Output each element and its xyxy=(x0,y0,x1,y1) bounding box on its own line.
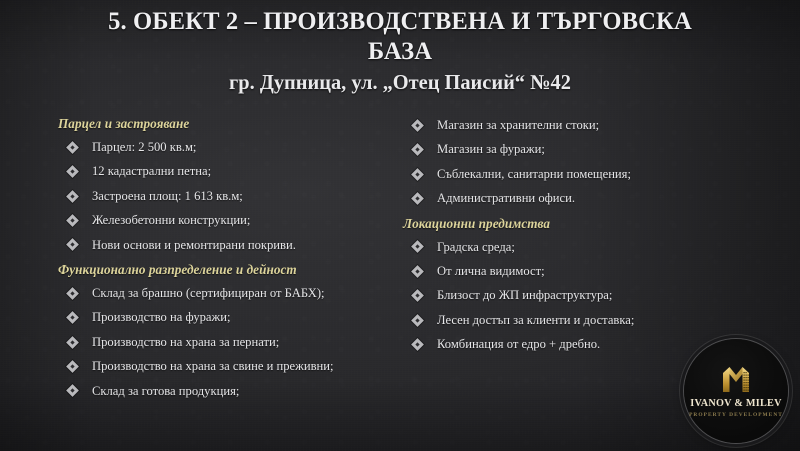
diamond-bullet-icon xyxy=(411,265,424,278)
building-monogram-icon xyxy=(718,362,754,394)
list-item-label: Застроена площ: 1 613 кв.м; xyxy=(92,189,243,203)
list-item: Съблекални, санитарни помещения; xyxy=(393,162,723,186)
diamond-bullet-icon xyxy=(411,338,424,351)
bullet-list: Градска среда; От лична видимост; Близос… xyxy=(393,235,723,357)
presentation-slide: 5. ОБЕКТ 2 – ПРОИЗВОДСТВЕНА И ТЪРГОВСКА … xyxy=(0,0,800,451)
page-title-line-2: БАЗА xyxy=(368,36,432,65)
bullet-list: Склад за брашно (сертифициран от БАБХ); … xyxy=(58,281,393,403)
diamond-bullet-icon xyxy=(66,141,79,154)
section-heading: Парцел и застрояване xyxy=(58,113,393,134)
list-item: Производство на храна за пернати; xyxy=(58,330,393,354)
page-subtitle: гр. Дупница, ул. „Отец Паисий“ №42 xyxy=(51,69,749,96)
diamond-bullet-icon xyxy=(66,336,79,349)
list-item-label: Склад за готова продукция; xyxy=(92,384,239,398)
list-item: Парцел: 2 500 кв.м; xyxy=(58,135,393,159)
logo-tagline: PROPERTY DEVELOPMENT xyxy=(689,411,783,420)
logo-company-name: IVANOV & MILEV xyxy=(690,398,781,409)
list-item-label: Склад за брашно (сертифициран от БАБХ); xyxy=(92,286,325,300)
list-item-label: Производство на фуражи; xyxy=(92,310,230,324)
section-location-advantages: Локационни предимства Градска среда; От … xyxy=(393,213,723,357)
list-item: Градска среда; xyxy=(393,235,723,259)
list-item-label: Близост до ЖП инфраструктура; xyxy=(437,288,612,302)
list-item-label: Комбинация от едро + дребно. xyxy=(437,337,600,351)
list-item: Административни офиси. xyxy=(393,186,723,210)
list-item-label: Производство на храна за пернати; xyxy=(92,335,279,349)
list-item-label: 12 кадастрални петна; xyxy=(92,164,211,178)
section-parcel-and-development: Парцел и застрояване Парцел: 2 500 кв.м;… xyxy=(58,113,393,257)
list-item-label: Градска среда; xyxy=(437,240,515,254)
page-title-line-1: 5. ОБЕКТ 2 – ПРОИЗВОДСТВЕНА И ТЪРГОВСКА xyxy=(108,6,692,35)
diamond-bullet-icon xyxy=(411,168,424,181)
list-item: Лесен достъп за клиенти и доставка; xyxy=(393,308,723,332)
diamond-bullet-icon xyxy=(411,289,424,302)
diamond-bullet-icon xyxy=(66,190,79,203)
diamond-bullet-icon xyxy=(66,360,79,373)
list-item-label: Магазин за фуражи; xyxy=(437,142,545,156)
diamond-bullet-icon xyxy=(66,311,79,324)
list-item-label: Производство на храна за свине и преживн… xyxy=(92,359,334,373)
list-item: Производство на фуражи; xyxy=(58,305,393,329)
list-item: Производство на храна за свине и преживн… xyxy=(58,354,393,378)
section-premises-continued: Магазин за хранителни стоки; Магазин за … xyxy=(393,113,723,211)
list-item: Склад за брашно (сертифициран от БАБХ); xyxy=(58,281,393,305)
slide-content-layer: 5. ОБЕКТ 2 – ПРОИЗВОДСТВЕНА И ТЪРГОВСКА … xyxy=(0,0,800,451)
list-item: От лична видимост; xyxy=(393,259,723,283)
list-item-label: Магазин за хранителни стоки; xyxy=(437,118,599,132)
slide-title-block: 5. ОБЕКТ 2 – ПРОИЗВОДСТВЕНА И ТЪРГОВСКА … xyxy=(40,6,760,96)
list-item-label: Лесен достъп за клиенти и доставка; xyxy=(437,313,634,327)
list-item: Застроена площ: 1 613 кв.м; xyxy=(58,184,393,208)
list-item-label: Нови основи и ремонтирани покриви. xyxy=(92,238,296,252)
diamond-bullet-icon xyxy=(411,240,424,253)
diamond-bullet-icon xyxy=(66,384,79,397)
section-heading: Локационни предимства xyxy=(393,213,723,234)
list-item: Железобетонни конструкции; xyxy=(58,208,393,232)
diamond-bullet-icon xyxy=(411,192,424,205)
diamond-bullet-icon xyxy=(411,119,424,132)
left-column: Парцел и застрояване Парцел: 2 500 кв.м;… xyxy=(58,113,393,405)
list-item: Нови основи и ремонтирани покриви. xyxy=(58,233,393,257)
diamond-bullet-icon xyxy=(66,238,79,251)
list-item-label: Железобетонни конструкции; xyxy=(92,213,250,227)
list-item: Магазин за фуражи; xyxy=(393,137,723,161)
list-item: Склад за готова продукция; xyxy=(58,379,393,403)
list-item-label: Съблекални, санитарни помещения; xyxy=(437,167,631,181)
right-column: Магазин за хранителни стоки; Магазин за … xyxy=(393,113,723,359)
slide-body: Парцел и застрояване Парцел: 2 500 кв.м;… xyxy=(0,113,800,405)
list-item: Комбинация от едро + дребно. xyxy=(393,332,723,356)
diamond-bullet-icon xyxy=(411,143,424,156)
section-functional-distribution: Функционално разпределение и дейност Скл… xyxy=(58,259,393,403)
list-item: Близост до ЖП инфраструктура; xyxy=(393,283,723,307)
diamond-bullet-icon xyxy=(66,165,79,178)
diamond-bullet-icon xyxy=(66,214,79,227)
diamond-bullet-icon xyxy=(66,287,79,300)
list-item: 12 кадастрални петна; xyxy=(58,159,393,183)
bullet-list: Парцел: 2 500 кв.м; 12 кадастрални петна… xyxy=(58,135,393,257)
page-title: 5. ОБЕКТ 2 – ПРОИЗВОДСТВЕНА И ТЪРГОВСКА … xyxy=(53,6,748,66)
list-item-label: Административни офиси. xyxy=(437,191,575,205)
list-item: Магазин за хранителни стоки; xyxy=(393,113,723,137)
list-item-label: Парцел: 2 500 кв.м; xyxy=(92,140,196,154)
company-logo: IVANOV & MILEV PROPERTY DEVELOPMENT xyxy=(684,339,788,443)
section-heading: Функционално разпределение и дейност xyxy=(58,259,393,280)
list-item-label: От лична видимост; xyxy=(437,264,545,278)
bullet-list: Магазин за хранителни стоки; Магазин за … xyxy=(393,113,723,211)
diamond-bullet-icon xyxy=(411,314,424,327)
